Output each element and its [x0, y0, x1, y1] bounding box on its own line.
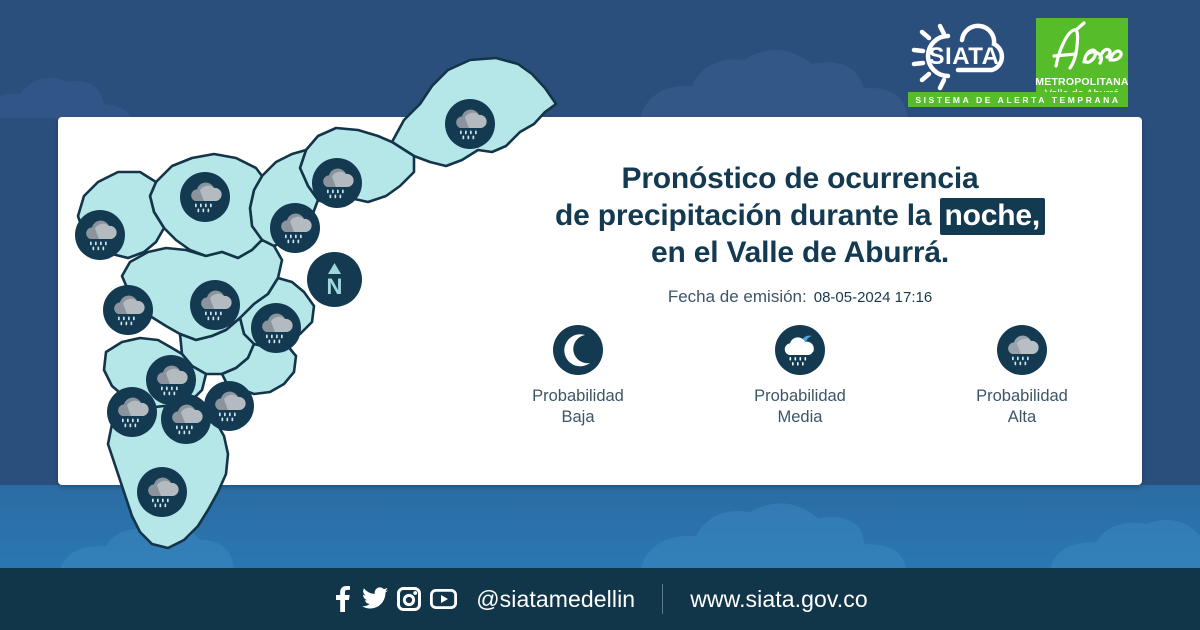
- map-marker-alta: [137, 467, 187, 517]
- legend-label-baja: Probabilidad Baja: [532, 386, 624, 428]
- legend-media-l1: Probabilidad: [754, 387, 846, 405]
- legend-alta-l1: Probabilidad: [976, 387, 1068, 405]
- tagline-band: SISTEMA DE ALERTA TEMPRANA: [908, 92, 1128, 107]
- siata-logo: SIATA: [900, 18, 1028, 94]
- social-handle[interactable]: @siatamedellin: [476, 586, 635, 613]
- cloud-rain-gray-icon: [137, 467, 187, 517]
- social-links: [332, 586, 457, 612]
- map-marker-alta: [270, 203, 320, 253]
- instagram-icon[interactable]: [397, 587, 421, 611]
- headline-line-2: de precipitación durante la noche,: [470, 197, 1130, 234]
- cloud-rain-gray-icon: [997, 325, 1047, 375]
- map-marker-alta: [445, 99, 495, 149]
- map-marker-alta: [180, 172, 230, 222]
- cloud-rain-gray-icon: [312, 158, 362, 208]
- tagline-text: SISTEMA DE ALERTA TEMPRANA: [915, 95, 1120, 105]
- map-marker-alta: [312, 158, 362, 208]
- legend-item-alta: Probabilidad Alta: [947, 325, 1097, 428]
- headline-block: Pronóstico de ocurrencia de precipitació…: [470, 160, 1130, 307]
- emission-label: Fecha de emisión:: [668, 287, 807, 307]
- legend-label-media: Probabilidad Media: [754, 386, 846, 428]
- map-marker-alta: [190, 280, 240, 330]
- map-marker-alta: [75, 210, 125, 260]
- legend-baja-l1: Probabilidad: [532, 387, 624, 405]
- compass-rose: N: [307, 252, 362, 312]
- area-script-icon: [1040, 20, 1124, 76]
- map-marker-alta: [103, 285, 153, 335]
- map-marker-alta: [107, 387, 157, 437]
- legend-alta-l2: Alta: [1008, 408, 1036, 426]
- cloud-rain-gray-icon: [204, 381, 254, 431]
- footer-bar: @siatamedellin www.siata.gov.co: [0, 568, 1200, 630]
- cloud-rain-gray-icon: [180, 172, 230, 222]
- emission-row: Fecha de emisión: 08-05-2024 17:16: [470, 287, 1130, 307]
- cloud-rain-gray-icon: [107, 387, 157, 437]
- cloud-rain-gray-icon: [251, 303, 301, 353]
- map-marker-alta: [251, 303, 301, 353]
- website-url[interactable]: www.siata.gov.co: [690, 586, 868, 613]
- probability-legend: Probabilidad Baja Probabilidad Media: [470, 325, 1130, 428]
- cloud-rain-gray-icon: [190, 280, 240, 330]
- compass-label: N: [327, 274, 343, 299]
- headline-line-1: Pronóstico de ocurrencia: [470, 160, 1130, 197]
- headline-line-2-text: de precipitación durante la: [555, 199, 940, 232]
- headline-line-3: en el Valle de Aburrá.: [470, 234, 1130, 271]
- cloud-rain-gray-icon: [75, 210, 125, 260]
- legend-item-baja: Probabilidad Baja: [503, 325, 653, 428]
- legend-item-media: Probabilidad Media: [725, 325, 875, 428]
- legend-baja-l2: Baja: [561, 408, 594, 426]
- twitter-icon[interactable]: [362, 587, 388, 611]
- emission-value: 08-05-2024 17:16: [814, 289, 932, 306]
- legend-media-l2: Media: [778, 408, 823, 426]
- footer-divider: [662, 584, 663, 614]
- cloud-rain-moon-icon: [775, 325, 825, 375]
- cloud-rain-gray-icon: [445, 99, 495, 149]
- siata-wordmark: SIATA: [929, 43, 1000, 70]
- legend-label-alta: Probabilidad Alta: [976, 386, 1068, 428]
- map-marker-alta: [204, 381, 254, 431]
- facebook-icon[interactable]: [332, 586, 353, 612]
- headline-highlight-noche: noche,: [940, 198, 1045, 235]
- youtube-icon[interactable]: [430, 589, 457, 609]
- moon-icon: [553, 325, 603, 375]
- am-line-1: METROPOLITANA: [1035, 76, 1128, 88]
- cloud-rain-gray-icon: [103, 285, 153, 335]
- cloud-rain-gray-icon: [270, 203, 320, 253]
